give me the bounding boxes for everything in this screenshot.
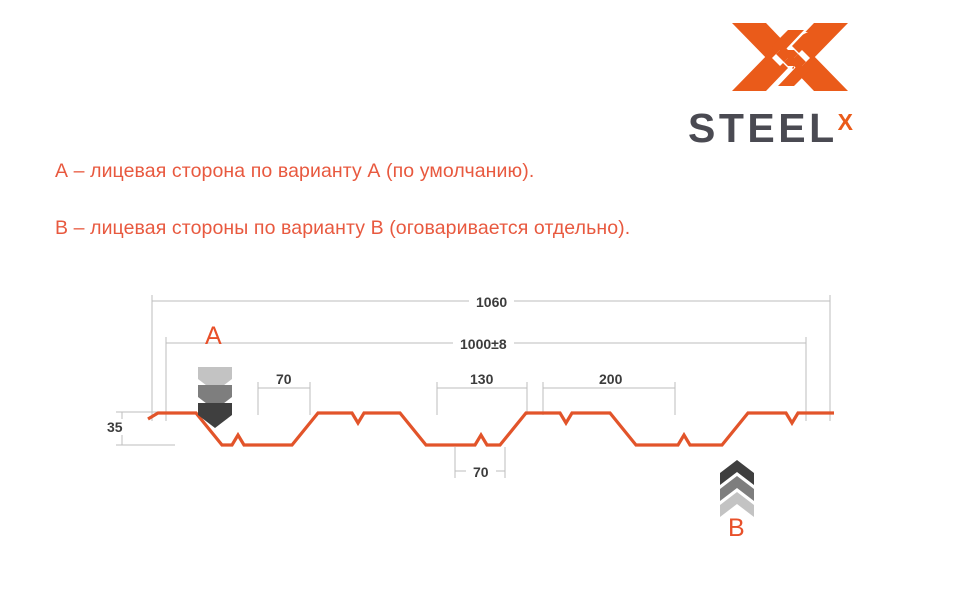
marker-a-chevrons — [198, 367, 232, 428]
marker-label-a: A — [205, 322, 222, 351]
dim-label-bottom-valley: 70 — [466, 464, 496, 480]
dim-label-pitch: 200 — [592, 371, 629, 387]
marker-label-b: B — [728, 514, 745, 543]
profile-outline — [148, 413, 834, 445]
steelx-logo: STEELX — [688, 18, 908, 143]
caption-variant-a: А – лицевая сторона по варианту А (по ум… — [55, 160, 534, 183]
wordmark-text: STEEL — [688, 105, 838, 151]
steelx-wordmark: STEELX — [688, 102, 908, 142]
dim-label-top-flange: 70 — [269, 371, 299, 387]
marker-b-chevrons — [720, 460, 754, 517]
dim-label-rib-spacing: 130 — [463, 371, 500, 387]
wordmark-superscript: X — [838, 109, 853, 135]
page-root: STEELX А – лицевая сторона по варианту А… — [0, 0, 970, 597]
dim-label-height: 35 — [100, 419, 130, 435]
steelx-x-logo-icon — [730, 18, 850, 96]
profile-technical-drawing: 1060 1000±8 70 130 200 70 35 A B — [0, 275, 970, 565]
caption-variant-b: В – лицевая стороны по варианту В (огова… — [55, 217, 630, 240]
dim-label-overall-width: 1060 — [469, 294, 514, 310]
dim-label-cover-width: 1000±8 — [453, 336, 514, 352]
